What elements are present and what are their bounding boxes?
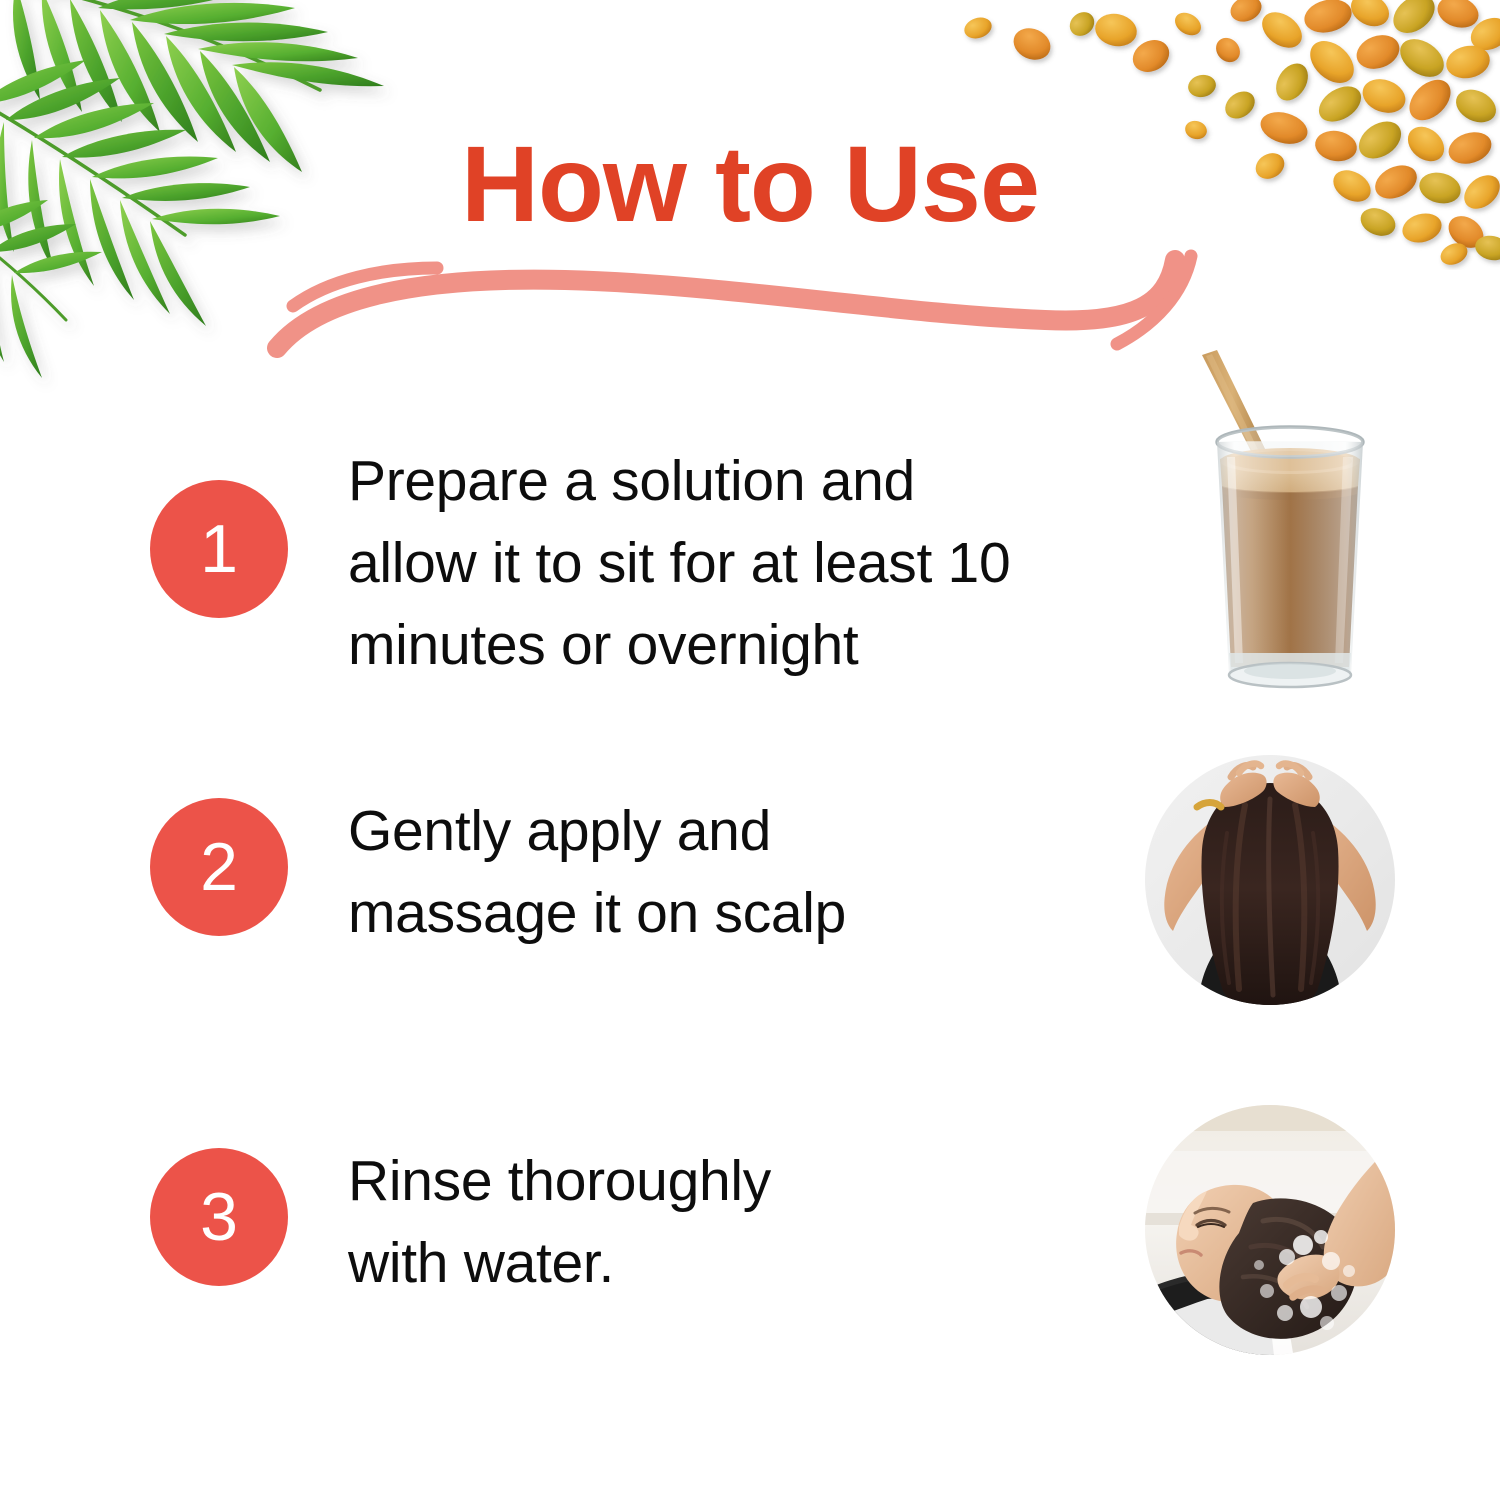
step-item-2: 2 Gently apply and massage it on scalp: [150, 790, 1450, 954]
how-to-use-infographic: How to Use 1 Prepare a solution and allo…: [0, 0, 1500, 1500]
steps-list: 1 Prepare a solution and allow it to sit…: [0, 0, 1500, 1500]
step-number-badge-2: 2: [150, 798, 288, 936]
step-item-3: 3 Rinse thoroughly with water.: [150, 1140, 1450, 1304]
step-text-2: Gently apply and massage it on scalp: [348, 790, 1138, 954]
step-text-3: Rinse thoroughly with water.: [348, 1140, 1138, 1304]
step-text-1: Prepare a solution and allow it to sit f…: [348, 440, 1138, 686]
step-number-badge-1: 1: [150, 480, 288, 618]
step-number-badge-3: 3: [150, 1148, 288, 1286]
step-item-1: 1 Prepare a solution and allow it to sit…: [150, 440, 1450, 686]
